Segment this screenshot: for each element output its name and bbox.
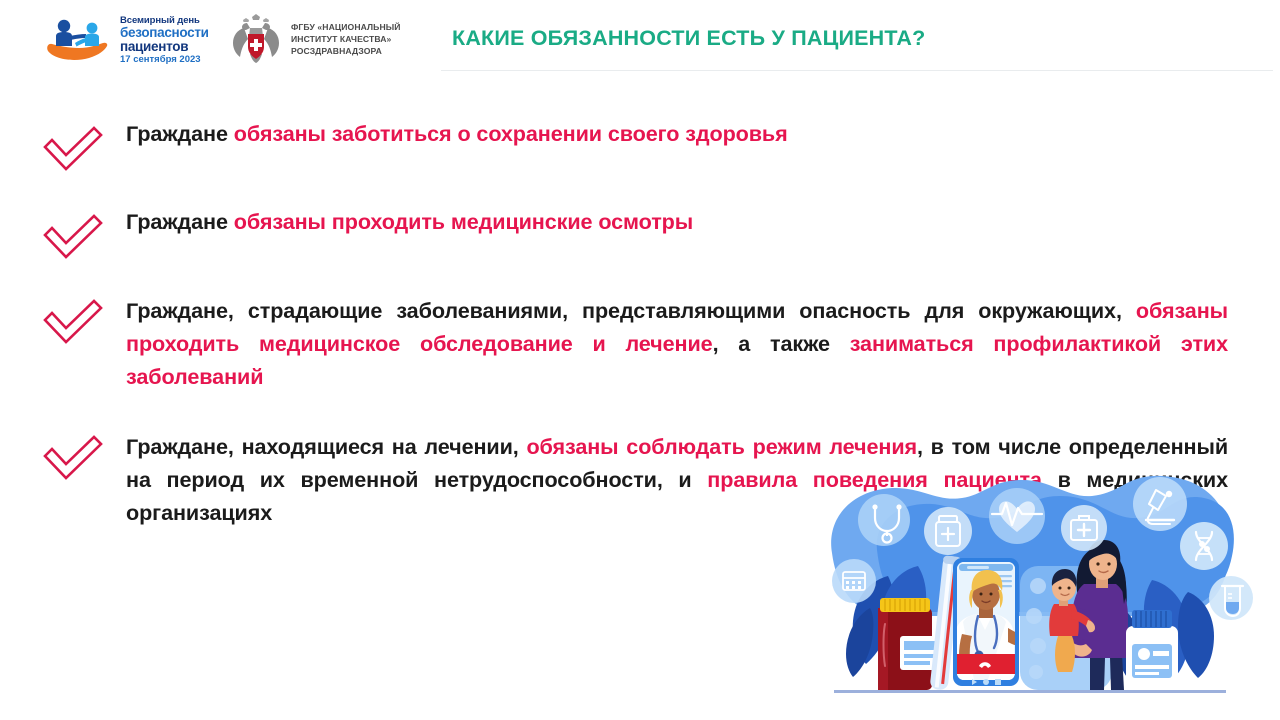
bullet-text-2: Граждане обязаны проходить медицинские о… <box>126 210 1228 234</box>
nik-line-3: РОСЗДРАВНАДЗОРА <box>291 45 401 57</box>
dna-icon <box>1180 522 1228 570</box>
bullet-1-segment-1: Граждане <box>126 121 234 146</box>
list-item: Граждане обязаны заботиться о сохранении… <box>0 122 1280 172</box>
nik-line-2: ИНСТИТУТ КАЧЕСТВА» <box>291 33 401 45</box>
page-title: КАКИЕ ОБЯЗАННОСТИ ЕСТЬ У ПАЦИЕНТА? <box>452 26 925 51</box>
checkmark-icon <box>42 126 104 172</box>
heart-ecg-icon <box>989 488 1045 544</box>
microscope-icon <box>1133 477 1187 531</box>
bullet-2-segment-1: Граждане <box>126 209 234 234</box>
list-item: Граждане обязаны проходить медицинские о… <box>0 210 1280 260</box>
test-tube-icon <box>1209 576 1253 620</box>
wpsd-line-4-date: 17 сентября 2023 <box>120 55 209 65</box>
wpsd-logo-text: Всемирный день безопасности пациентов 17… <box>120 16 209 65</box>
ground-line <box>834 690 1226 693</box>
bullet-check-cell <box>42 431 126 481</box>
bullet-text-1: Граждане обязаны заботиться о сохранении… <box>126 122 1228 146</box>
double-headed-eagle-emblem-icon <box>230 14 282 64</box>
bullet-3-segment-1: Граждане, страдающие заболеваниями, пред… <box>126 298 1136 323</box>
two-people-in-hand-logo-icon <box>45 17 113 63</box>
checkmark-icon <box>42 214 104 260</box>
bullet-2-segment-2: обязаны проходить медицинские осмотры <box>234 209 693 234</box>
slide-header: Всемирный день безопасности пациентов 17… <box>0 0 1280 88</box>
roszdravnadzor-logo-text: ФГБУ «НАЦИОНАЛЬНЫЙ ИНСТИТУТ КАЧЕСТВА» РО… <box>291 21 401 58</box>
pill-bottle-icon <box>924 507 972 555</box>
header-divider <box>441 70 1273 71</box>
bullet-check-cell <box>42 122 126 172</box>
medicine-bottle-white <box>1126 610 1178 690</box>
slide-root: Всемирный день безопасности пациентов 17… <box>0 0 1280 720</box>
bullet-4-segment-1: Граждане, находящиеся на лечении, <box>126 434 526 459</box>
bullet-check-cell <box>42 210 126 260</box>
bullet-4-segment-2: обязаны соблюдать режим лечения <box>526 434 917 459</box>
telemedicine-illustration <box>822 458 1272 716</box>
checkmark-icon <box>42 299 104 345</box>
bullet-1-segment-2: обязаны заботиться о сохранении своего з… <box>234 121 788 146</box>
wpsd-line-2: безопасности <box>120 26 209 40</box>
wpsd-line-3: пациентов <box>120 40 209 54</box>
logo-roszdravnadzor: ФГБУ «НАЦИОНАЛЬНЫЙ ИНСТИТУТ КАЧЕСТВА» РО… <box>230 14 401 64</box>
first-aid-kit-icon <box>1061 505 1107 551</box>
calendar-icon <box>832 559 876 603</box>
bullet-check-cell <box>42 295 126 345</box>
list-item: Граждане, страдающие заболеваниями, пред… <box>0 295 1280 393</box>
stethoscope-icon <box>858 494 910 546</box>
bullet-3-segment-3: , а также <box>713 331 850 356</box>
checkmark-icon <box>42 435 104 481</box>
logo-world-patient-safety-day: Всемирный день безопасности пациентов 17… <box>45 16 209 65</box>
bullet-text-3: Граждане, страдающие заболеваниями, пред… <box>126 295 1228 393</box>
nik-line-1: ФГБУ «НАЦИОНАЛЬНЫЙ <box>291 21 401 33</box>
